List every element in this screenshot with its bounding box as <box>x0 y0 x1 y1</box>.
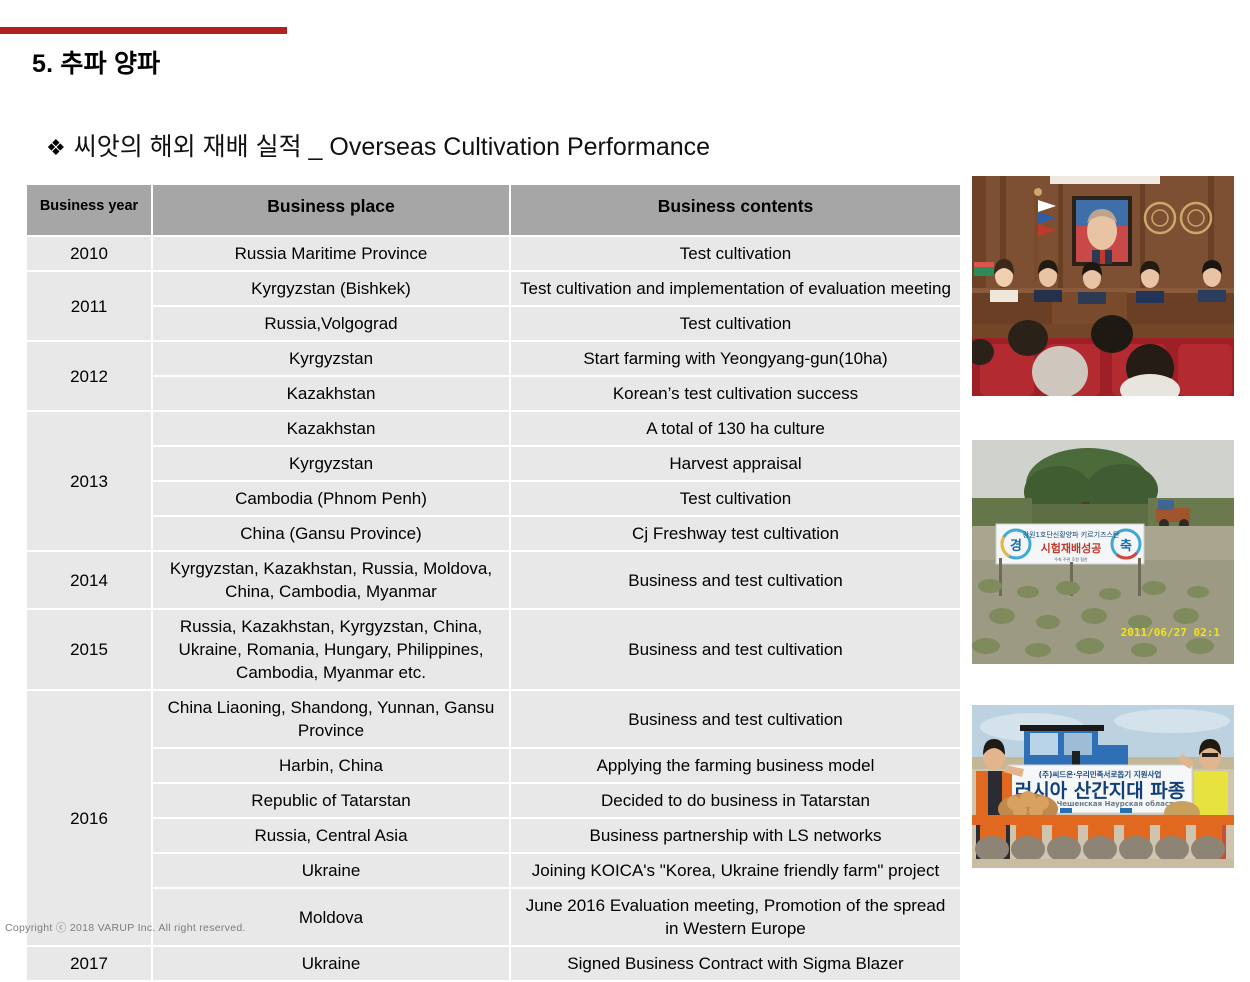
table-row: Ukraine Joining KOICA's "Korea, Ukraine … <box>27 854 960 887</box>
cell-business-place: Russia,Volgograd <box>153 307 509 340</box>
cell-business-contents: Business and test cultivation <box>511 552 960 608</box>
table-row: 2015 Russia, Kazakhstan, Kyrgyzstan, Chi… <box>27 610 960 689</box>
section-subtitle-text: 씨앗의 해외 재배 실적 _ Overseas Cultivation Perf… <box>74 133 710 161</box>
cell-business-place: Ukraine <box>153 854 509 887</box>
cell-business-contents: Test cultivation <box>511 237 960 270</box>
cell-business-contents: Start farming with Yeongyang-gun(10ha) <box>511 342 960 375</box>
table-row: Russia, Central Asia Business partnershi… <box>27 819 960 852</box>
tractor-seeding-photo: (주)씨드온·우리민족서로돕기 지원사업 러시아 산간지대 파종 RUSSIA,… <box>972 705 1234 868</box>
column-header-business-place: Business place <box>153 185 509 235</box>
table-header-row: Business year Business place Business co… <box>27 185 960 235</box>
svg-text:2011/06/27 02:1: 2011/06/27 02:1 <box>1121 626 1221 639</box>
cell-business-contents: Cj Freshway test cultivation <box>511 517 960 550</box>
table-row: Russia,Volgograd Test cultivation <box>27 307 960 340</box>
cell-business-contents: Applying the farming business model <box>511 749 960 782</box>
cell-business-place: Cambodia (Phnom Penh) <box>153 482 509 515</box>
cell-business-year: 2010 <box>27 237 151 270</box>
cell-business-contents: Harvest appraisal <box>511 447 960 480</box>
section-subtitle: ❖씨앗의 해외 재배 실적 _ Overseas Cultivation Per… <box>46 128 806 167</box>
overseas-cultivation-table-wrap: Business year Business place Business co… <box>25 183 958 982</box>
column-header-business-contents: Business contents <box>511 185 960 235</box>
cell-business-year: 2015 <box>27 610 151 689</box>
table-body: 2010 Russia Maritime Province Test culti… <box>27 237 960 980</box>
svg-text:경: 경 <box>1010 538 1022 554</box>
svg-text:주최 주관 후원 협찬: 주최 주관 후원 협찬 <box>1054 556 1088 562</box>
cell-business-contents: Test cultivation <box>511 482 960 515</box>
table-row: Harbin, China Applying the farming busin… <box>27 749 960 782</box>
svg-text:축: 축 <box>1120 538 1132 554</box>
cell-business-place: Ukraine <box>153 947 509 980</box>
cell-business-place: Russia Maritime Province <box>153 237 509 270</box>
field-banner-illustration: 경 축 강원1호단신황양파 키르기즈스탄 시험재배성공 주최 주관 후원 협찬 … <box>972 440 1234 664</box>
cell-business-place: China Liaoning, Shandong, Yunnan, Gansu … <box>153 691 509 747</box>
table-row: Kazakhstan Korean’s test cultivation suc… <box>27 377 960 410</box>
tractor-seeding-illustration: (주)씨드온·우리민족서로돕기 지원사업 러시아 산간지대 파종 RUSSIA,… <box>972 705 1234 868</box>
cell-business-place: Russia, Central Asia <box>153 819 509 852</box>
table-row: Kyrgyzstan Harvest appraisal <box>27 447 960 480</box>
cell-business-year: 2012 <box>27 342 151 410</box>
overseas-cultivation-table: Business year Business place Business co… <box>25 183 962 982</box>
svg-text:시험재배성공: 시험재배성공 <box>1041 541 1102 555</box>
footer-copyright: Copyright ⓒ 2018 VARUP Inc. All right re… <box>5 920 246 935</box>
cell-business-contents: Decided to do business in Tatarstan <box>511 784 960 817</box>
cell-business-place: China (Gansu Province) <box>153 517 509 550</box>
cell-business-contents: Korean’s test cultivation success <box>511 377 960 410</box>
cell-business-place: Kazakhstan <box>153 412 509 445</box>
table-row: Republic of Tatarstan Decided to do busi… <box>27 784 960 817</box>
cell-business-year: 2013 <box>27 412 151 550</box>
page-title: 5. 추파 양파 <box>32 44 160 80</box>
cell-business-contents: Joining KOICA's "Korea, Ukraine friendly… <box>511 854 960 887</box>
column-header-business-year: Business year <box>27 185 151 235</box>
cell-business-place: Harbin, China <box>153 749 509 782</box>
svg-text:강원1호단신황양파 키르기즈스탄: 강원1호단신황양파 키르기즈스탄 <box>1023 530 1120 539</box>
table-row: 2014 Kyrgyzstan, Kazakhstan, Russia, Mol… <box>27 552 960 608</box>
cell-business-contents: A total of 130 ha culture <box>511 412 960 445</box>
table-row: 2013 Kazakhstan A total of 130 ha cultur… <box>27 412 960 445</box>
title-accent-bar <box>0 27 287 34</box>
table-row: 2017 Ukraine Signed Business Contract wi… <box>27 947 960 980</box>
field-banner-photo: 경 축 강원1호단신황양파 키르기즈스탄 시험재배성공 주최 주관 후원 협찬 … <box>972 440 1234 664</box>
cell-business-place: Kyrgyzstan, Kazakhstan, Russia, Moldova,… <box>153 552 509 608</box>
cell-business-contents: Test cultivation <box>511 307 960 340</box>
table-row: 2011 Kyrgyzstan (Bishkek) Test cultivati… <box>27 272 960 305</box>
bullet-diamond-icon: ❖ <box>46 135 66 160</box>
cell-business-contents: Signed Business Contract with Sigma Blaz… <box>511 947 960 980</box>
cell-business-place: Kyrgyzstan <box>153 342 509 375</box>
cell-business-place: Republic of Tatarstan <box>153 784 509 817</box>
cell-business-year: 2017 <box>27 947 151 980</box>
table-row: China (Gansu Province) Cj Freshway test … <box>27 517 960 550</box>
cell-business-place: Russia, Kazakhstan, Kyrgyzstan, China, U… <box>153 610 509 689</box>
table-head: Business year Business place Business co… <box>27 185 960 235</box>
cell-business-contents: Business and test cultivation <box>511 691 960 747</box>
cell-business-contents: Test cultivation and implementation of e… <box>511 272 960 305</box>
cell-business-year: 2016 <box>27 691 151 945</box>
conference-hall-illustration <box>972 176 1234 396</box>
table-row: 2016 China Liaoning, Shandong, Yunnan, G… <box>27 691 960 747</box>
cell-business-year: 2011 <box>27 272 151 340</box>
conference-hall-photo <box>972 176 1234 396</box>
cell-business-year: 2014 <box>27 552 151 608</box>
cell-business-contents: Business and test cultivation <box>511 610 960 689</box>
cell-business-place: Kazakhstan <box>153 377 509 410</box>
table-row: 2010 Russia Maritime Province Test culti… <box>27 237 960 270</box>
svg-text:(주)씨드온·우리민족서로돕기 지원사업: (주)씨드온·우리민족서로돕기 지원사업 <box>1039 769 1162 779</box>
table-row: Cambodia (Phnom Penh) Test cultivation <box>27 482 960 515</box>
cell-business-place: Kyrgyzstan <box>153 447 509 480</box>
cell-business-contents: Business partnership with LS networks <box>511 819 960 852</box>
cell-business-place: Kyrgyzstan (Bishkek) <box>153 272 509 305</box>
table-row: 2012 Kyrgyzstan Start farming with Yeong… <box>27 342 960 375</box>
